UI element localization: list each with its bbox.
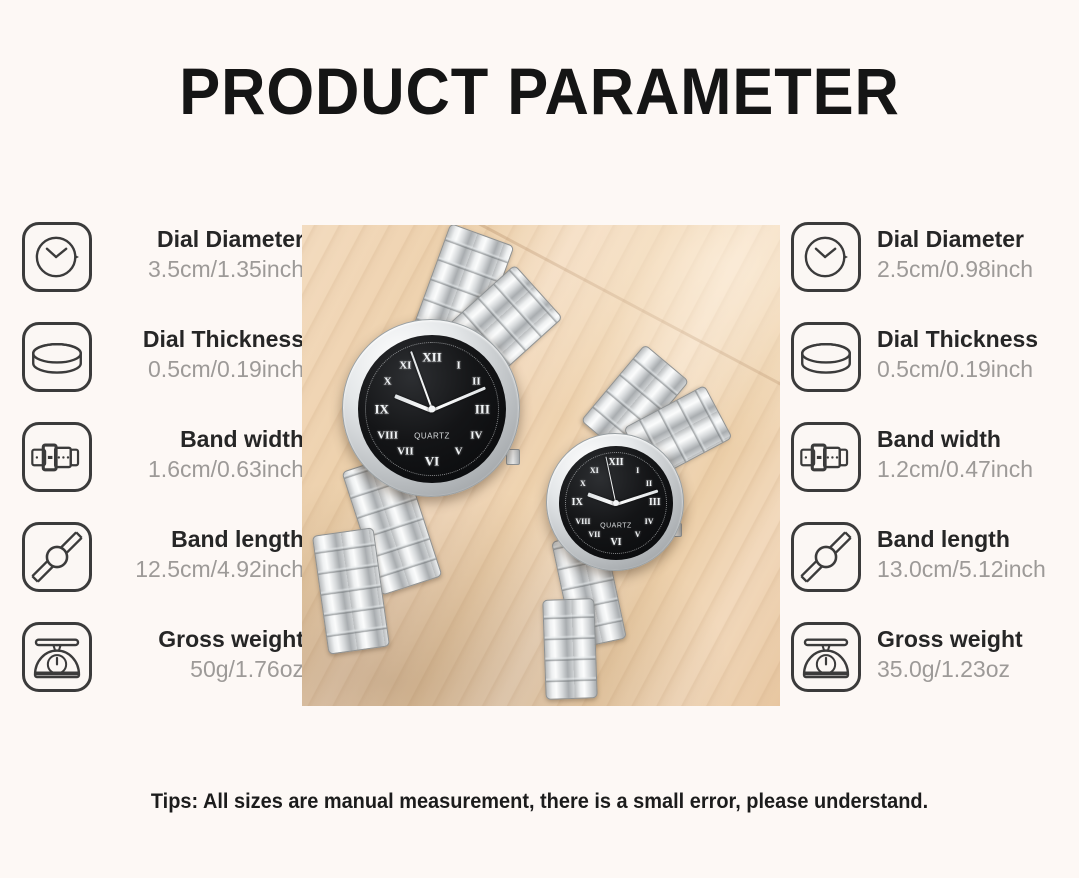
product-parameter-infographic: PRODUCT PARAMETER Dial Diameter 3.5cm/1.… — [0, 0, 1079, 878]
band-width-icon — [791, 422, 861, 492]
hand-center-pin — [429, 406, 436, 413]
spec-label: Band length — [877, 525, 1079, 554]
spec-text: Dial Diameter 3.5cm/1.35inch — [104, 225, 304, 284]
spec-label: Band length — [104, 525, 304, 554]
spec-value: 1.2cm/0.47inch — [877, 454, 1079, 484]
dial-numeral-10: X — [580, 480, 586, 488]
spec-label: Dial Diameter — [877, 225, 1079, 254]
spec-label: Dial Diameter — [104, 225, 304, 254]
spec-row-band-width: Band width 1.6cm/0.63inch — [18, 422, 308, 522]
dial-numeral-4: IV — [470, 430, 482, 441]
spec-text: Gross weight 35.0g/1.23oz — [879, 625, 1079, 684]
spec-label: Band width — [877, 425, 1079, 454]
spec-column-left: Dial Diameter 3.5cm/1.35inch Dial Thickn… — [18, 222, 308, 722]
spec-row-band-length: Band length 13.0cm/5.12inch — [787, 522, 1077, 622]
spec-row-gross-weight: Gross weight 35.0g/1.23oz — [787, 622, 1077, 722]
dial-numeral-1: I — [456, 361, 460, 372]
spec-text: Dial Thickness 0.5cm/0.19inch — [879, 325, 1079, 384]
dial-thickness-icon — [22, 322, 92, 392]
dial-numeral-5: V — [635, 531, 641, 539]
page-title: PRODUCT PARAMETER — [38, 56, 1041, 126]
womens-watch: XII III VI IX I II X XI IV V VII VIII QU… — [508, 351, 758, 703]
weight-scale-icon — [791, 622, 861, 692]
dial-numeral-9: IX — [374, 403, 388, 416]
spec-row-dial-diameter: Dial Diameter 3.5cm/1.35inch — [18, 222, 308, 322]
dial-numeral-11: XI — [590, 467, 599, 475]
dial-numeral-7: VII — [588, 531, 600, 539]
dial-numeral-1: I — [636, 467, 639, 475]
watch-dial-icon — [791, 222, 861, 292]
dial-brand-text: QUARTZ — [600, 522, 632, 529]
dial-numeral-9: IX — [572, 498, 583, 508]
watch-band-lower-2 — [542, 598, 597, 700]
band-links — [543, 599, 596, 699]
dial-numeral-5: V — [455, 446, 463, 457]
hand-center-pin — [613, 500, 619, 506]
product-photo: XII III VI IX I II X XI IV V VII VIII QU… — [302, 225, 780, 706]
spec-value: 12.5cm/4.92inch — [104, 554, 304, 584]
spec-row-dial-diameter: Dial Diameter 2.5cm/0.98inch — [787, 222, 1077, 322]
dial-thickness-icon — [791, 322, 861, 392]
dial-numeral-12: XII — [422, 351, 442, 364]
spec-row-dial-thickness: Dial Thickness 0.5cm/0.19inch — [787, 322, 1077, 422]
dial-numeral-2: II — [472, 377, 481, 388]
spec-value: 2.5cm/0.98inch — [877, 254, 1079, 284]
watch-case: XII III VI IX I II X XI IV V VII VIII QU… — [342, 319, 520, 497]
spec-row-band-width: Band width 1.2cm/0.47inch — [787, 422, 1077, 522]
dial-numeral-3: III — [649, 498, 661, 508]
dial-numeral-2: II — [646, 480, 652, 488]
spec-text: Band length 13.0cm/5.12inch — [879, 525, 1079, 584]
spec-label: Dial Thickness — [104, 325, 304, 354]
spec-label: Gross weight — [877, 625, 1079, 654]
watch-case: XII III VI IX I II X XI IV V VII VIII QU… — [546, 433, 684, 571]
dial-numeral-12: XII — [608, 458, 623, 468]
spec-value: 0.5cm/0.19inch — [104, 354, 304, 384]
spec-text: Gross weight 50g/1.76oz — [104, 625, 304, 684]
spec-value: 3.5cm/1.35inch — [104, 254, 304, 284]
spec-value: 35.0g/1.23oz — [877, 654, 1079, 684]
band-length-icon — [791, 522, 861, 592]
spec-row-gross-weight: Gross weight 50g/1.76oz — [18, 622, 308, 722]
band-length-icon — [22, 522, 92, 592]
spec-text: Band width 1.6cm/0.63inch — [104, 425, 304, 484]
dial-numeral-6: VI — [425, 454, 439, 467]
weight-scale-icon — [22, 622, 92, 692]
dial-numeral-4: IV — [645, 518, 654, 526]
spec-text: Band length 12.5cm/4.92inch — [104, 525, 304, 584]
spec-row-dial-thickness: Dial Thickness 0.5cm/0.19inch — [18, 322, 308, 422]
spec-value: 1.6cm/0.63inch — [104, 454, 304, 484]
spec-label: Band width — [104, 425, 304, 454]
spec-value: 13.0cm/5.12inch — [877, 554, 1079, 584]
spec-column-right: Dial Diameter 2.5cm/0.98inch Dial Thickn… — [787, 222, 1077, 722]
watch-dial: XII III VI IX I II X XI IV V VII VIII QU… — [559, 446, 673, 560]
tips-note: Tips: All sizes are manual measurement, … — [27, 789, 1052, 815]
spec-label: Gross weight — [104, 625, 304, 654]
dial-numeral-7: VII — [397, 446, 414, 457]
dial-numeral-6: VI — [610, 538, 621, 548]
dial-numeral-3: III — [475, 403, 490, 416]
dial-numeral-11: XI — [399, 361, 411, 372]
dial-brand-text: QUARTZ — [414, 431, 450, 440]
watch-dial-icon — [22, 222, 92, 292]
spec-value: 50g/1.76oz — [104, 654, 304, 684]
spec-row-band-length: Band length 12.5cm/4.92inch — [18, 522, 308, 622]
watch-dial: XII III VI IX I II X XI IV V VII VIII QU… — [358, 335, 506, 483]
spec-text: Band width 1.2cm/0.47inch — [879, 425, 1079, 484]
dial-numeral-10: X — [384, 377, 392, 388]
dial-numeral-8: VIII — [377, 430, 398, 441]
band-width-icon — [22, 422, 92, 492]
dial-numeral-8: VIII — [575, 518, 590, 526]
spec-text: Dial Diameter 2.5cm/0.98inch — [879, 225, 1079, 284]
spec-label: Dial Thickness — [877, 325, 1079, 354]
spec-value: 0.5cm/0.19inch — [877, 354, 1079, 384]
spec-text: Dial Thickness 0.5cm/0.19inch — [104, 325, 304, 384]
